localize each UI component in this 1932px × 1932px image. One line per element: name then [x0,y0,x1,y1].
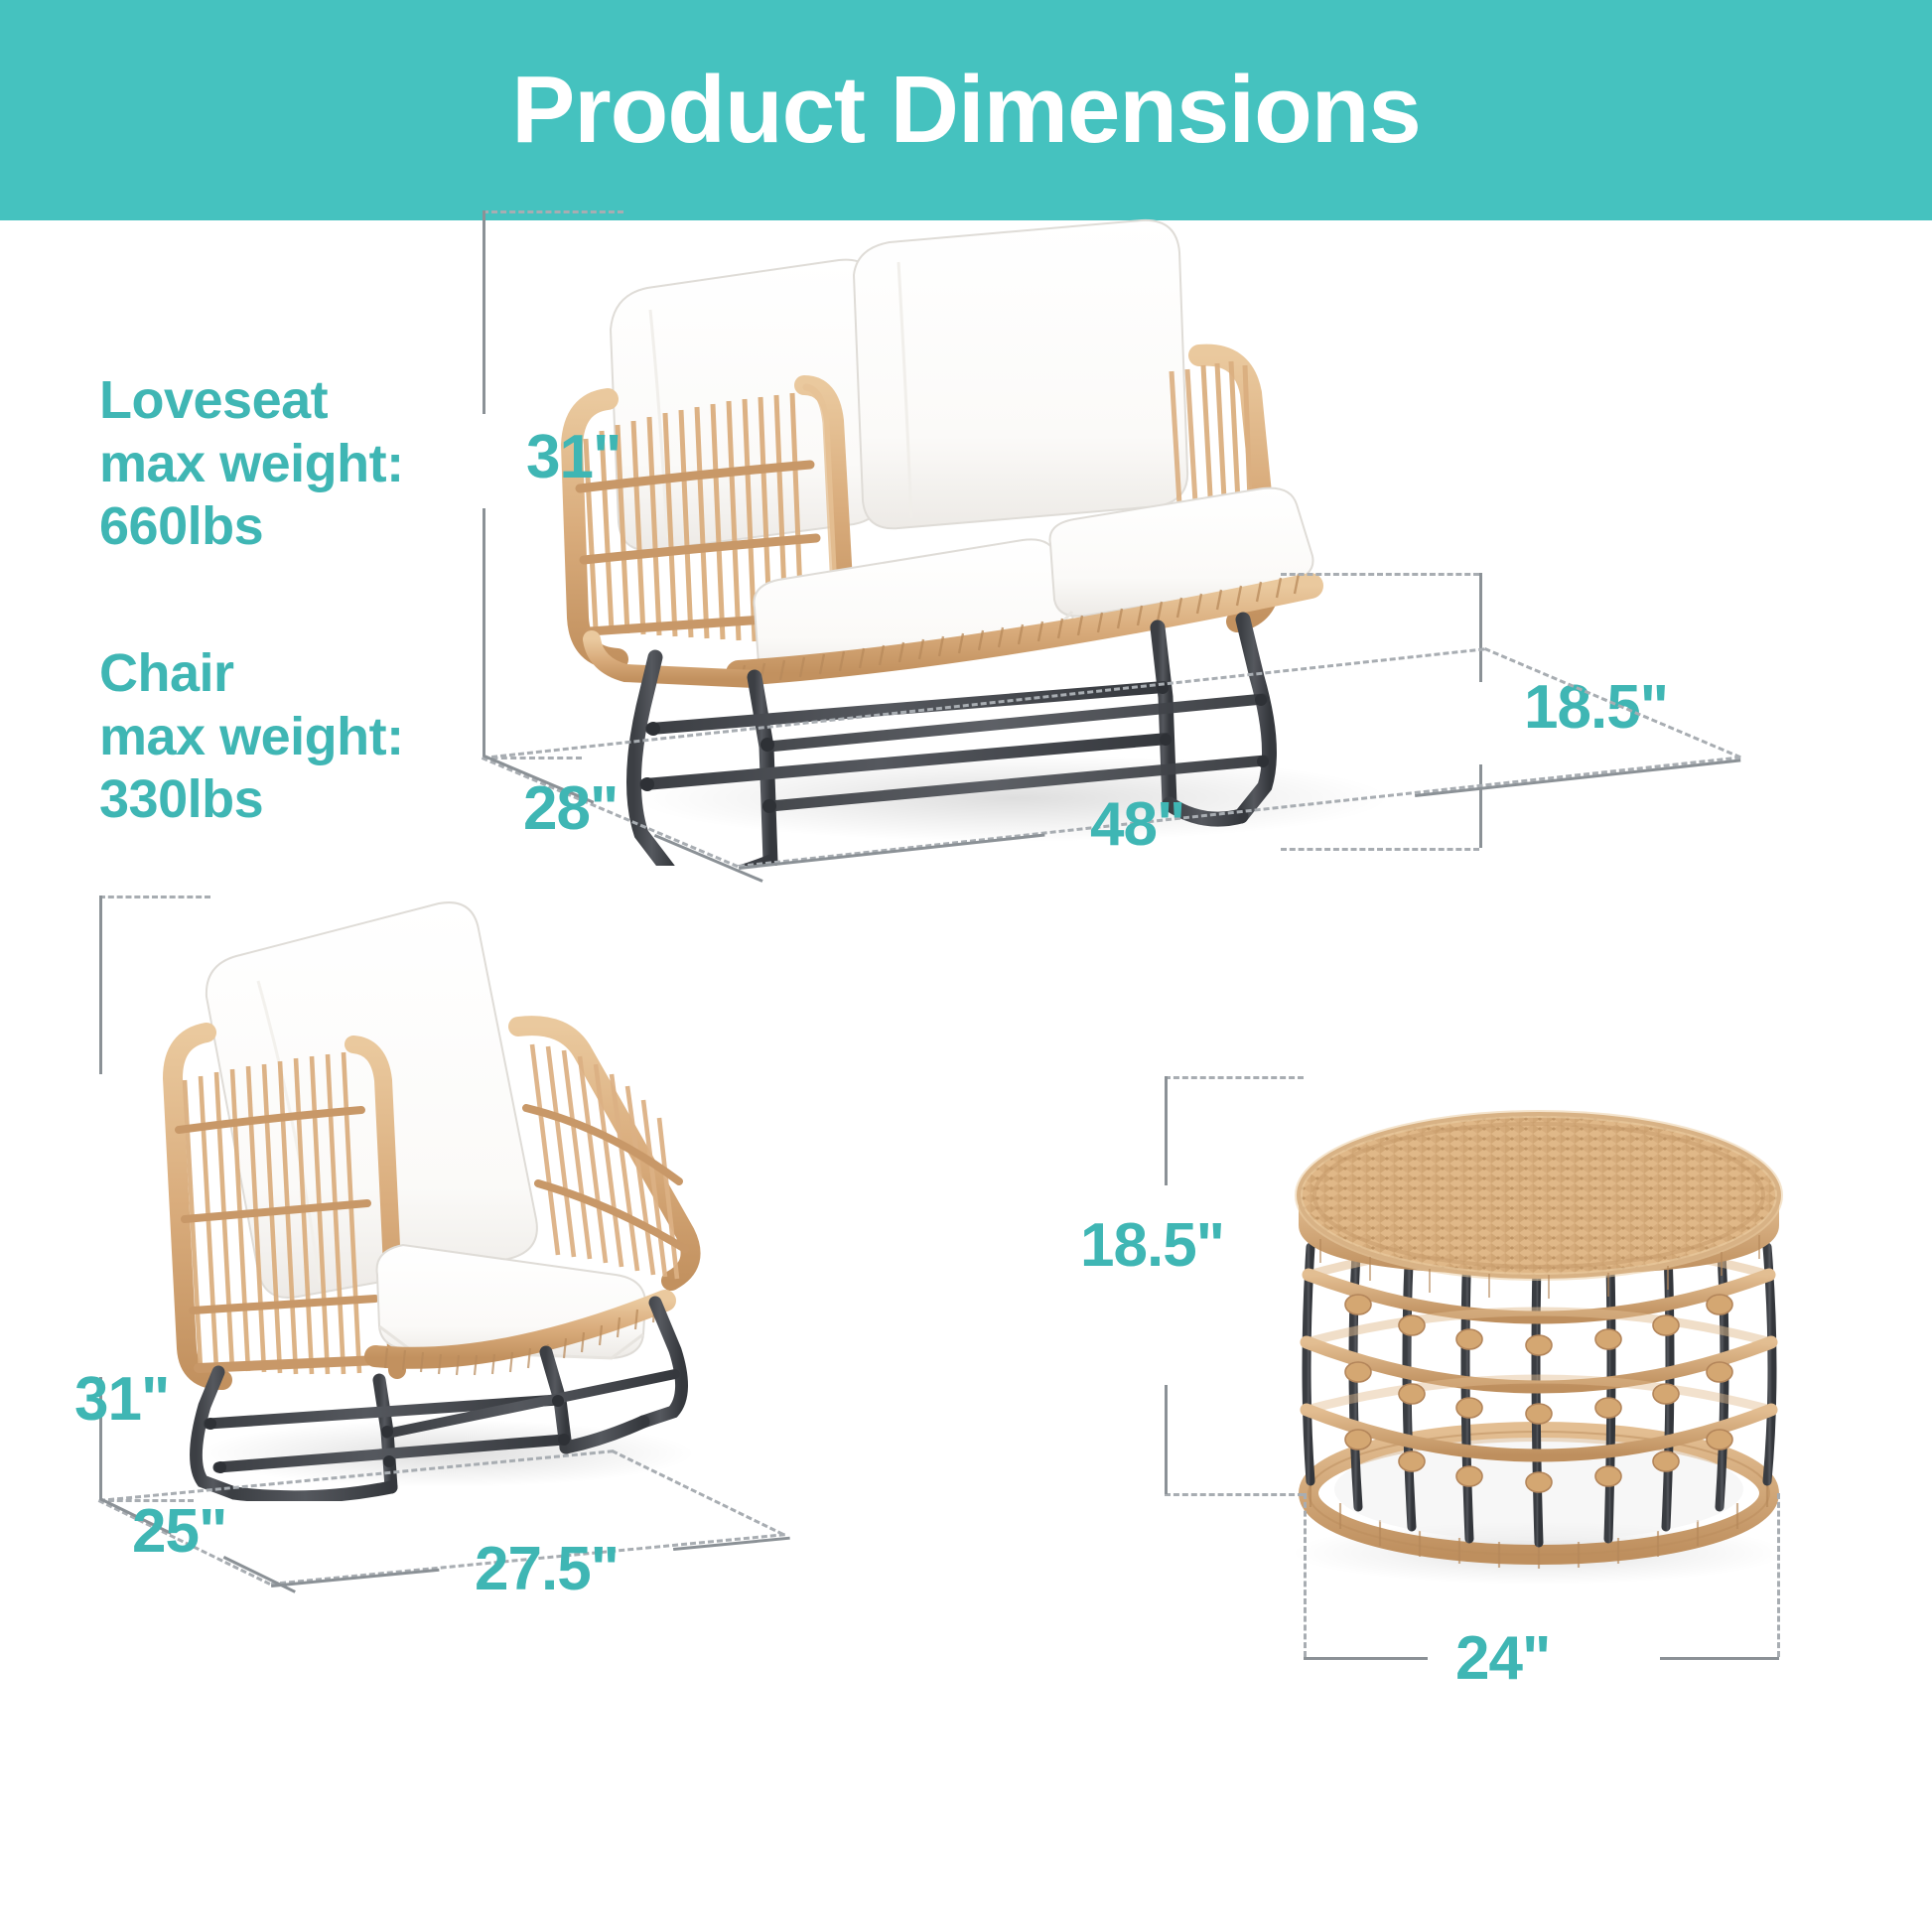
loveseat-seat-height-label: 18.5" [1524,677,1668,739]
loveseat-width-label: 48" [1090,794,1184,856]
loveseat-seat-height-bottom-lead [1281,848,1479,851]
loveseat-width-leader-right [1415,759,1740,797]
loveseat-height-label: 31" [526,427,621,488]
loveseat-height-dimension-line-upper [483,210,485,414]
chair-depth-label: 25" [132,1501,226,1563]
chair-depth-leader-lower [223,1556,296,1593]
table-diameter-dimension-line-left [1304,1657,1428,1660]
table-height-dimension-line-lower [1165,1385,1168,1494]
chair-width-label: 27.5" [475,1539,619,1600]
loveseat-seat-height-top-lead [1281,573,1479,576]
loveseat-height-top-lead [483,210,623,213]
table-height-dimension-line-upper [1165,1076,1168,1185]
chair-height-dimension-line-upper [99,896,102,1074]
table-diameter-label: 24" [1455,1628,1550,1690]
chair-product-image [149,886,764,1501]
table-diameter-left-extension [1304,1493,1307,1657]
loveseat-depth-label: 28" [523,778,618,840]
loveseat-seat-height-dimension-line-upper [1479,573,1482,682]
chair-max-weight-text: Chair max weight: 330lbs [99,642,404,832]
loveseat-seat-height-dimension-line-lower [1479,764,1482,848]
loveseat-product-image [556,191,1449,866]
chair-height-top-lead [99,896,210,898]
header-bar: Product Dimensions [0,0,1932,220]
loveseat-footprint-right-edge [1484,647,1741,759]
table-diameter-dimension-line-right [1660,1657,1779,1660]
loveseat-height-dimension-line-lower [483,508,485,757]
table-height-top-lead [1165,1076,1304,1079]
chair-width-leader-left [271,1569,440,1587]
chair-height-label: 31" [74,1369,169,1431]
table-height-label: 18.5" [1080,1215,1224,1277]
loveseat-max-weight-text: Loveseat max weight: 660lbs [99,369,404,559]
table-diameter-right-extension [1777,1493,1780,1657]
table-height-bottom-lead [1165,1493,1304,1496]
table-product-image [1241,1044,1857,1600]
page-title: Product Dimensions [511,63,1420,158]
diagram-canvas: Loveseat max weight: 660lbs Chair max we… [0,220,1932,1932]
